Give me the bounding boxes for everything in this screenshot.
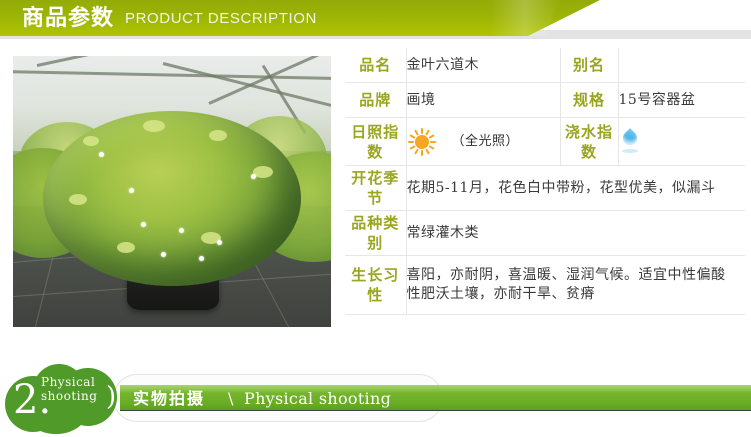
sun-ray xyxy=(425,129,430,135)
foliage-highlight xyxy=(69,194,87,205)
table-row: 品名 金叶六道木 别名 xyxy=(345,48,745,83)
sun-ray xyxy=(430,141,436,143)
bloom xyxy=(217,240,222,245)
banner-green-bar xyxy=(120,385,751,411)
sun-ray xyxy=(414,129,419,135)
bloom xyxy=(161,252,166,257)
spec-label-watering-line1: 浇水指数 xyxy=(561,122,618,162)
table-row: 日照指数 xyxy=(345,118,745,166)
bloom xyxy=(141,222,146,227)
table-row: 生长习性 喜阳，亦耐阴，喜温暖、湿润气候。适宜中性偏酸性肥沃土壤，亦耐干旱、贫瘠 xyxy=(345,256,745,315)
sun-ray xyxy=(409,134,415,139)
foliage-highlight xyxy=(253,166,273,178)
bloom xyxy=(99,152,104,157)
sun-core xyxy=(415,135,429,149)
section-number-badge: 2. Physical shooting ) xyxy=(3,362,125,434)
foliage-highlight xyxy=(209,130,227,141)
table-row: 开花季节 花期5-11月，花色白中带粉，花型优美，似漏斗 xyxy=(345,166,745,211)
foliage-highlight xyxy=(83,136,99,146)
spec-label-sunlight: 日照指数 xyxy=(345,118,406,166)
badge-paren: ) xyxy=(106,384,116,410)
bloom xyxy=(129,188,134,193)
page-title-en: PRODUCT DESCRIPTION xyxy=(125,9,317,29)
sun-ray xyxy=(428,145,434,150)
spec-value-category: 常绿灌木类 xyxy=(406,211,745,256)
spec-label-watering: 浇水指数 xyxy=(560,118,618,166)
badge-label: Physical shooting xyxy=(41,375,97,403)
spec-label-alias: 别名 xyxy=(560,48,618,83)
water-drop-shadow xyxy=(622,149,638,153)
sun-ray xyxy=(425,148,430,154)
sun-icon xyxy=(407,127,437,157)
spec-value-size: 15号容器盆 xyxy=(618,83,745,118)
section-title-separator: \ xyxy=(228,388,233,409)
page-title-cn: 商品参数 xyxy=(22,3,114,32)
section-header: 商品参数 PRODUCT DESCRIPTION xyxy=(0,0,751,45)
spec-label-size: 规格 xyxy=(560,83,618,118)
section-title-cn: 实物拍摄 xyxy=(133,388,205,409)
section-title-en: Physical shooting xyxy=(244,388,391,409)
spec-label-name: 品名 xyxy=(345,48,406,83)
section-physical-shooting: 实物拍摄 \ Physical shooting 2. Physical sho… xyxy=(0,360,751,437)
table-row: 品种类别 常绿灌木类 xyxy=(345,211,745,256)
sun-ray xyxy=(428,134,434,139)
spec-value-sunlight: （全光照） xyxy=(406,118,560,166)
sun-ray xyxy=(409,145,415,150)
sun-ray xyxy=(408,141,414,143)
water-drop-icon xyxy=(619,128,641,156)
spec-value-brand: 画境 xyxy=(406,83,560,118)
foliage-highlight xyxy=(143,120,165,132)
sun-ray xyxy=(414,148,419,154)
spec-value-alias xyxy=(618,48,745,83)
spec-label-bloom-season: 开花季节 xyxy=(345,166,406,211)
spec-value-watering xyxy=(618,118,745,166)
bloom xyxy=(251,174,256,179)
foliage-highlight xyxy=(117,242,135,253)
water-drop-body xyxy=(620,128,640,148)
badge-label-line1: Physical xyxy=(41,375,97,389)
spec-label-sunlight-line1: 日照指数 xyxy=(345,122,406,162)
spec-value-bloom-season: 花期5-11月，花色白中带粉，花型优美，似漏斗 xyxy=(406,166,745,211)
product-photo xyxy=(13,56,331,327)
table-row: 品牌 画境 规格 15号容器盆 xyxy=(345,83,745,118)
sun-ray xyxy=(421,150,423,156)
spec-label-category: 品种类别 xyxy=(345,211,406,256)
sunlight-note: （全光照） xyxy=(451,132,519,151)
spec-label-growth-habit: 生长习性 xyxy=(345,256,406,315)
spec-label-brand: 品牌 xyxy=(345,83,406,118)
product-spec-table: 品名 金叶六道木 别名 品牌 画境 规格 15号容器盆 日照指数 xyxy=(345,48,745,315)
bloom xyxy=(179,228,184,233)
product-description-page: 商品参数 PRODUCT DESCRIPTION xyxy=(0,0,751,437)
sun-ray xyxy=(421,128,423,134)
spec-value-name: 金叶六道木 xyxy=(406,48,560,83)
bloom xyxy=(199,256,204,261)
badge-label-line2: shooting xyxy=(41,389,97,403)
spec-value-growth-habit: 喜阳，亦耐阴，喜温暖、湿润气候。适宜中性偏酸性肥沃土壤，亦耐干旱、贫瘠 xyxy=(406,256,745,315)
